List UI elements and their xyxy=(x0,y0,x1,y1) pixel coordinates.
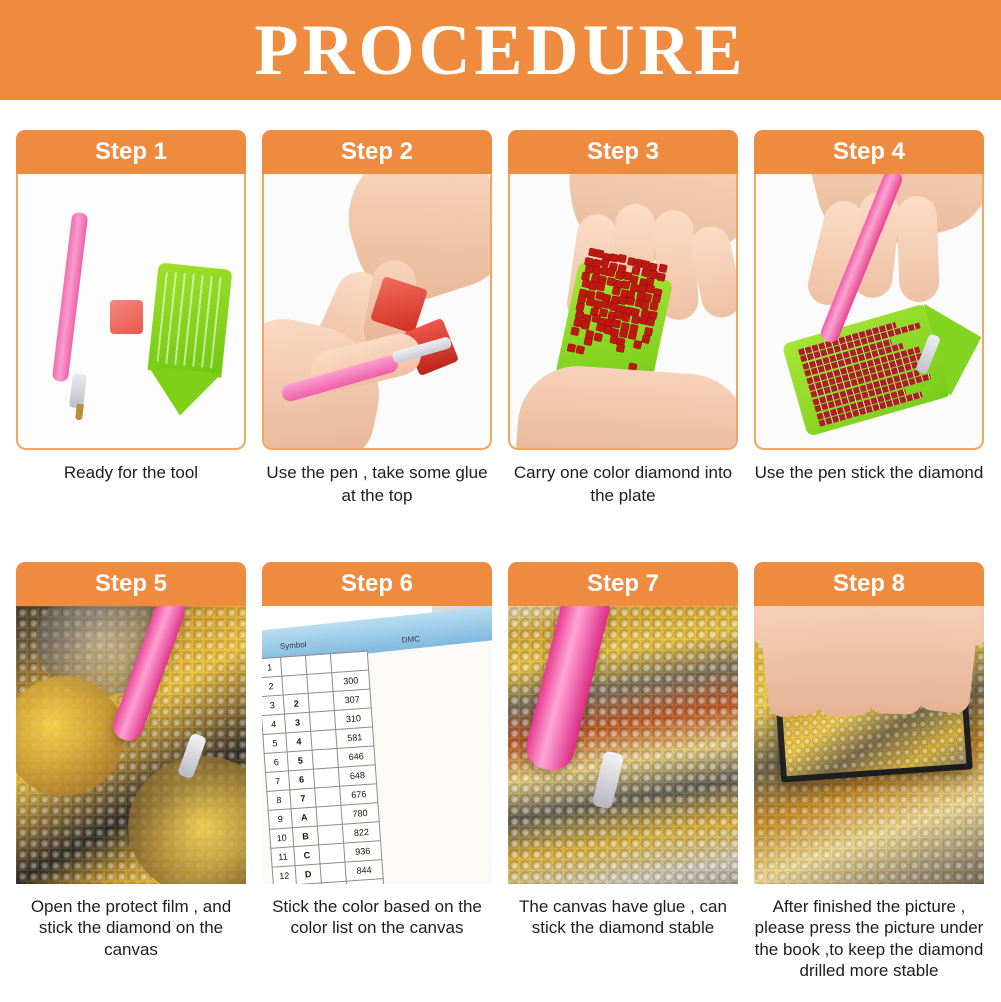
step-card-8: Step 8 After finished th xyxy=(754,562,984,981)
table-cell: A xyxy=(291,807,317,828)
table-cell xyxy=(313,767,339,788)
table-cell xyxy=(315,786,341,807)
step-5-caption: Open the protect film , and stick the di… xyxy=(16,896,246,960)
table-cell xyxy=(309,711,335,732)
step-4-image xyxy=(754,174,984,450)
table-cell xyxy=(320,862,346,883)
step-card-6: Step 6 Symbol DMC 1230032307433105458165… xyxy=(262,562,492,939)
step-card-3: Step 3 Carry one color diamond into the … xyxy=(508,130,738,508)
step-card-5: Step 5 Open the protect film , and stick… xyxy=(16,562,246,960)
table-cell xyxy=(280,655,306,676)
table-cell: 6 xyxy=(264,752,288,773)
pink-pen-icon xyxy=(52,212,89,383)
photo-inner xyxy=(16,606,246,884)
table-cell: 1 xyxy=(262,657,282,678)
table-cell: 7 xyxy=(290,788,316,809)
table-cell: 8 xyxy=(267,790,291,811)
step-6-header: Step 6 xyxy=(262,562,492,606)
chart-header-right: DMC xyxy=(401,634,420,644)
step-8-image xyxy=(754,606,984,884)
step-5-label: Step 5 xyxy=(95,570,167,598)
step-7-caption: The canvas have glue , can stick the dia… xyxy=(508,896,738,939)
step-1-header: Step 1 xyxy=(16,130,246,174)
step-3-label: Step 3 xyxy=(587,138,659,166)
table-cell: 2 xyxy=(283,693,309,714)
step-1-caption: Ready for the tool xyxy=(16,462,246,485)
step-5-image xyxy=(16,606,246,884)
table-cell: 7 xyxy=(266,771,290,792)
table-cell xyxy=(307,673,333,694)
table-cell: 12 xyxy=(272,866,296,884)
step-card-7: Step 7 The canvas have glue , can stick … xyxy=(508,562,738,939)
step-8-caption: After finished the picture , please pres… xyxy=(754,896,984,981)
step-6-image: Symbol DMC 12300323074331054581656467664… xyxy=(262,606,492,884)
table-cell: 11 xyxy=(271,847,295,868)
table-cell xyxy=(319,843,345,864)
table-cell: 9 xyxy=(268,809,292,830)
steps-grid: Step 1 Ready for the tool Step 2 xyxy=(0,100,1001,1001)
step-4-header: Step 4 xyxy=(754,130,984,174)
steps-row-1: Step 1 Ready for the tool Step 2 xyxy=(0,130,1001,570)
table-cell xyxy=(316,805,342,826)
finger-icon xyxy=(813,606,872,717)
photo-inner xyxy=(508,606,738,884)
table-cell: B xyxy=(292,826,318,847)
table-cell: 10 xyxy=(269,828,293,849)
step-5-header: Step 5 xyxy=(16,562,246,606)
step-7-label: Step 7 xyxy=(587,570,659,598)
table-cell xyxy=(308,692,334,713)
step-1-image xyxy=(16,174,246,450)
glue-square-icon xyxy=(110,300,143,334)
photo-inner xyxy=(754,606,984,884)
step-4-label: Step 4 xyxy=(833,138,905,166)
table-cell: 3 xyxy=(262,695,284,716)
step-7-image xyxy=(508,606,738,884)
step-6-label: Step 6 xyxy=(341,570,413,598)
step-4-caption: Use the pen stick the diamond xyxy=(754,462,984,485)
step-2-label: Step 2 xyxy=(341,138,413,166)
table-cell: 3 xyxy=(284,712,310,733)
table-cell: 6 xyxy=(288,769,314,790)
page-title: PROCEDURE xyxy=(254,14,746,86)
step-card-2: Step 2 Use the pen , take some glue at t… xyxy=(262,130,492,508)
table-cell xyxy=(282,674,308,695)
step-2-header: Step 2 xyxy=(262,130,492,174)
step-2-caption: Use the pen , take some glue at the top xyxy=(262,462,492,508)
step-card-1: Step 1 Ready for the tool xyxy=(16,130,246,485)
page-banner: PROCEDURE xyxy=(0,0,1001,100)
step-6-caption: Stick the color based on the color list … xyxy=(262,896,492,939)
table-cell: D xyxy=(295,864,321,884)
procedure-infographic: PROCEDURE Step 1 Ready for the too xyxy=(0,0,1001,1001)
step-8-header: Step 8 xyxy=(754,562,984,606)
table-cell xyxy=(321,881,347,884)
step-3-image xyxy=(508,174,738,450)
photo-inner: Symbol DMC 12300323074331054581656467664… xyxy=(262,606,492,884)
step-3-header: Step 3 xyxy=(508,130,738,174)
step-1-label: Step 1 xyxy=(95,138,167,166)
finger-icon xyxy=(896,195,940,302)
hand-icon xyxy=(514,362,738,450)
step-3-caption: Carry one color diamond into the plate xyxy=(508,462,738,508)
color-chart-table: 123003230743310545816564676648876769A780… xyxy=(262,651,389,884)
step-8-label: Step 8 xyxy=(833,570,905,598)
table-cell: 5 xyxy=(287,750,313,771)
table-cell: 4 xyxy=(286,731,312,752)
table-cell xyxy=(312,748,338,769)
step-7-header: Step 7 xyxy=(508,562,738,606)
tray-grooves xyxy=(156,271,223,369)
table-cell: 5 xyxy=(263,733,287,754)
pen-nib-icon xyxy=(75,404,84,421)
table-cell: 2 xyxy=(262,676,283,697)
table-cell: C xyxy=(294,845,320,866)
chart-header-left: Symbol xyxy=(280,640,307,651)
step-2-image xyxy=(262,174,492,450)
color-list-sheet: Symbol DMC 12300323074331054581656467664… xyxy=(262,628,492,884)
green-tray-icon xyxy=(148,262,233,377)
steps-row-2: Step 5 Open the protect film , and stick… xyxy=(0,562,1001,1002)
table-cell xyxy=(311,729,337,750)
table-cell xyxy=(305,654,331,675)
step-card-4: Step 4 Use the pen stick the diamond xyxy=(754,130,984,485)
table-cell xyxy=(317,824,343,845)
table-cell: 4 xyxy=(262,714,286,735)
